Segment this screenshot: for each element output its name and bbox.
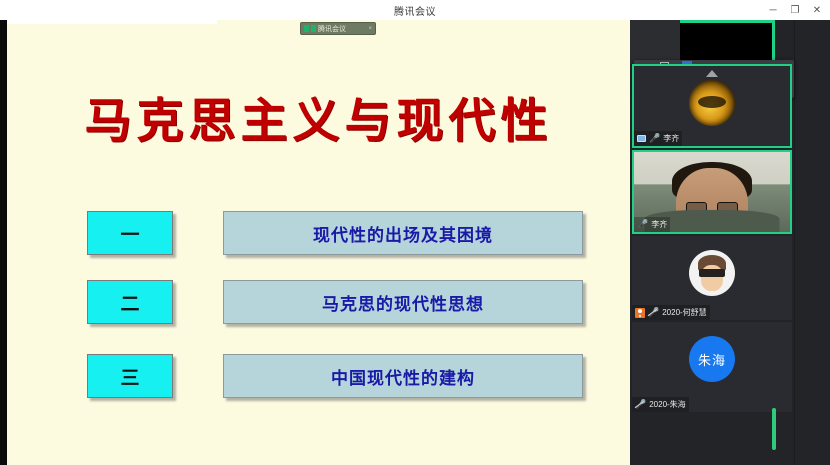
- participant-rail: 正在讲话: 李齐 ● 正在讲话: 李齐 ↰ △△ 🎤 李齐 🎤 李齐: [630, 20, 830, 465]
- slide-top-strip: [7, 20, 217, 24]
- tile-label: 🎤 李齐: [634, 217, 670, 232]
- caret-icon: [706, 70, 718, 77]
- mic-off-icon: 🎤: [635, 400, 646, 409]
- avatar: [689, 250, 735, 296]
- slide-agenda-row: 一 现代性的出场及其困境: [7, 210, 630, 256]
- mic-off-icon: 🎤: [648, 308, 659, 317]
- avatar: 朱海: [689, 336, 735, 382]
- shared-screen-area: 马克思主义与现代性 一 现代性的出场及其困境 二 马克思的现代性思想 三 中国现…: [0, 20, 630, 465]
- avatar: [689, 80, 735, 126]
- participant-name: 2020-何舒慧: [662, 307, 706, 318]
- signal-icon: [304, 25, 309, 32]
- participant-tile-liqi-avatar[interactable]: 🎤 李齐: [632, 64, 792, 148]
- participant-name: 李齐: [651, 219, 667, 230]
- maximize-button[interactable]: ❐: [784, 0, 806, 20]
- pill-label: 腾讯会议: [318, 24, 346, 34]
- pill-close-icon[interactable]: ×: [368, 26, 372, 32]
- screen-share-icon: [637, 135, 646, 142]
- mic-level-icon: [311, 25, 316, 32]
- close-button[interactable]: ✕: [806, 0, 828, 20]
- rail-background: [630, 20, 680, 64]
- rail-scrollbar-thumb[interactable]: [772, 408, 776, 450]
- tile-label: 🎤 2020-朱海: [632, 397, 689, 412]
- mic-icon: 🎤: [649, 134, 660, 143]
- tile-label: 🎤 李齐: [634, 131, 682, 146]
- sunglasses-icon: [699, 269, 725, 277]
- rail-divider: [794, 20, 795, 465]
- agenda-text-box: 马克思的现代性思想: [223, 280, 583, 324]
- participant-tile-heshuhui[interactable]: 🎤 2020-何舒慧: [632, 236, 792, 320]
- window-controls: ─ ❐ ✕: [762, 0, 828, 20]
- participant-tile-zhuhai[interactable]: 朱海 🎤 2020-朱海: [632, 322, 792, 412]
- slide-title: 马克思主义与现代性: [7, 82, 630, 151]
- slide-agenda-row: 二 马克思的现代性思想: [7, 279, 630, 325]
- window-title: 腾讯会议: [394, 3, 436, 18]
- participant-name: 李齐: [663, 133, 679, 144]
- rail-scrollbar-track[interactable]: [772, 60, 776, 465]
- person-icon: [635, 308, 645, 318]
- minimize-button[interactable]: ─: [762, 0, 784, 20]
- tile-label: 🎤 2020-何舒慧: [632, 305, 710, 320]
- window-titlebar: 腾讯会议 ─ ❐ ✕: [0, 0, 830, 20]
- participant-tile-liqi-webcam[interactable]: 🎤 李齐: [632, 150, 792, 234]
- participant-name: 2020-朱海: [649, 399, 685, 410]
- agenda-text-box: 现代性的出场及其困境: [223, 211, 583, 255]
- mic-icon: 🎤: [637, 220, 648, 229]
- slide-agenda-row: 三 中国现代性的建构: [7, 353, 630, 399]
- floating-meeting-pill[interactable]: 腾讯会议 ×: [300, 22, 376, 35]
- agenda-number-box: 三: [87, 354, 173, 398]
- agenda-number-box: 二: [87, 280, 173, 324]
- presentation-slide: 马克思主义与现代性 一 现代性的出场及其困境 二 马克思的现代性思想 三 中国现…: [7, 20, 630, 465]
- agenda-number-box: 一: [87, 211, 173, 255]
- agenda-text-box: 中国现代性的建构: [223, 354, 583, 398]
